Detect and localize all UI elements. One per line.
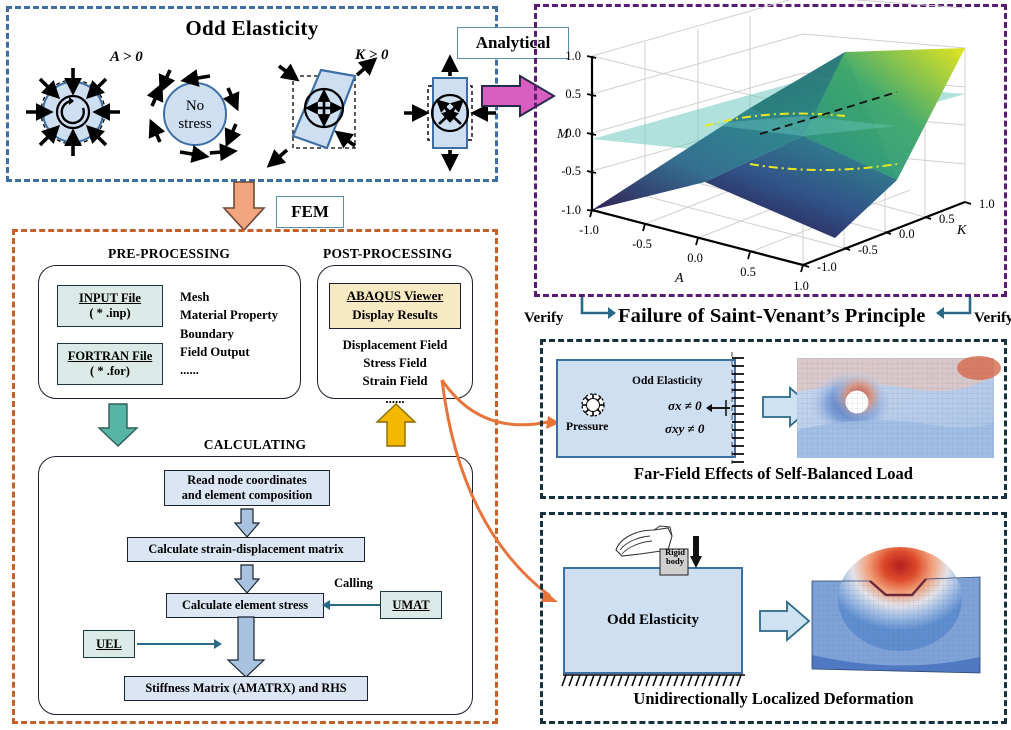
no-stress-line1: No (186, 98, 204, 114)
rigid-body-line2: body (661, 557, 689, 566)
uel-box[interactable]: UEL (83, 630, 135, 658)
uel-label: UEL (96, 637, 122, 652)
a-tick-0: -1.0 (579, 223, 599, 237)
surface-plot-3d: 1.0 0.5 0.0 -0.5 -1.0 M -1.0 -0.5 0.0 0.… (545, 12, 997, 290)
pre-bullet-4: ...... (180, 361, 300, 379)
verify-right-label: Verify (974, 310, 1011, 327)
a-axis-label: A (674, 271, 684, 286)
step-strain-displacement[interactable]: Calculate strain-displacement matrix (127, 537, 365, 562)
input-file-ext: ( * .inp) (89, 306, 130, 321)
pre-bullet-0: Mesh (180, 288, 300, 306)
localized-contour-plot (808, 565, 983, 677)
sigma-x-label: σx ≠ 0 (668, 398, 702, 414)
step-read-nodes-line1: Read node coordinates (187, 473, 307, 488)
abaqus-viewer-line1: ABAQUS Viewer (347, 287, 443, 306)
umat-calling-arrow (322, 598, 382, 612)
m-tick-4: -1.0 (561, 203, 581, 217)
conclusion-heading: Failure of Saint-Venant’s Principle (618, 305, 925, 328)
calculating-title: CALCULATING (12, 437, 498, 453)
k-tick-3: -0.5 (858, 243, 878, 257)
localized-fixed-boundary (560, 673, 748, 689)
input-file-box[interactable]: INPUT File ( * .inp) (57, 285, 163, 327)
verify-left-arrow (578, 297, 616, 325)
fem-arrow (220, 180, 268, 232)
verify-left-label: Verify (524, 310, 563, 327)
odd-elasticity-title: Odd Elasticity (6, 16, 498, 41)
sigma-xy-label: σxy ≠ 0 (665, 421, 704, 437)
uel-arrow (137, 637, 222, 651)
a-tick-1: -0.5 (632, 237, 652, 251)
a-tick-2: 0.0 (687, 251, 703, 265)
step-stiffness-matrix[interactable]: Stiffness Matrix (AMATRX) and RHS (124, 676, 368, 701)
flow-arrow-1 (232, 508, 262, 538)
k-tick-2: 0.0 (899, 227, 915, 241)
pre-bullet-2: Boundary (180, 325, 300, 343)
fortran-file-box[interactable]: FORTRAN File ( * .for) (57, 343, 163, 385)
k-tick-1: 0.5 (939, 212, 955, 226)
umat-label: UMAT (392, 598, 429, 613)
pre-processing-bullets: Mesh Material Property Boundary Field Ou… (180, 288, 300, 379)
pre-bullet-3: Field Output (180, 343, 300, 361)
post-bullet-1: Stress Field (322, 354, 468, 372)
m-tick-3: -0.5 (561, 164, 581, 178)
pressure-label: Pressure (566, 421, 608, 433)
m-tick-1: 0.5 (565, 87, 581, 101)
post-bullet-0: Displacement Field (322, 336, 468, 354)
localized-caption: Unidirectionally Localized Deformation (540, 689, 1007, 709)
k-tick-4: -1.0 (817, 260, 837, 274)
calling-label: Calling (334, 576, 373, 591)
verify-right-arrow (930, 297, 974, 325)
abaqus-viewer-line2: Display Results (352, 306, 438, 325)
a-tick-4: 1.0 (793, 279, 809, 293)
k-axis-label: K (956, 223, 967, 238)
post-processing-title: POST-PROCESSING (323, 246, 452, 262)
pre-processing-title: PRE-PROCESSING (108, 246, 230, 262)
no-stress-disk-figure: No stress (140, 62, 250, 162)
dilation-disk-figure (18, 60, 128, 165)
rigid-body-label: Rigid body (661, 548, 689, 566)
abaqus-viewer-box[interactable]: ABAQUS Viewer Display Results (329, 283, 461, 329)
step-read-nodes[interactable]: Read node coordinates and element compos… (164, 470, 330, 506)
farfield-body-label: Odd Elasticity (632, 375, 703, 387)
a-tick-3: 0.5 (740, 265, 756, 279)
k-tick-0: 1.0 (979, 197, 995, 211)
m-tick-0: 1.0 (565, 49, 581, 63)
shear-parallelogram-figure (265, 58, 385, 170)
umat-box[interactable]: UMAT (380, 591, 442, 619)
m-axis-label: M (556, 127, 570, 142)
farfield-load-arrows (706, 398, 732, 418)
input-file-name: INPUT File (79, 291, 141, 306)
step-element-stress[interactable]: Calculate element stress (166, 593, 324, 618)
pressure-hole-icon (578, 391, 608, 421)
farfield-caption: Far-Field Effects of Self-Balanced Load (540, 464, 1007, 484)
flow-arrow-3 (227, 616, 265, 678)
localized-body-label: Odd Elasticity (563, 612, 743, 629)
step-read-nodes-line2: and element composition (182, 488, 312, 503)
flow-arrow-2 (232, 564, 262, 594)
pre-bullet-1: Material Property (180, 306, 300, 324)
no-stress-line2: stress (178, 116, 211, 132)
localized-result-arrow (759, 600, 811, 642)
fortran-file-name: FORTRAN File (68, 349, 153, 364)
farfield-contour-plot (797, 358, 994, 458)
fem-label: FEM (276, 196, 344, 228)
fortran-file-ext: ( * .for) (90, 364, 130, 379)
